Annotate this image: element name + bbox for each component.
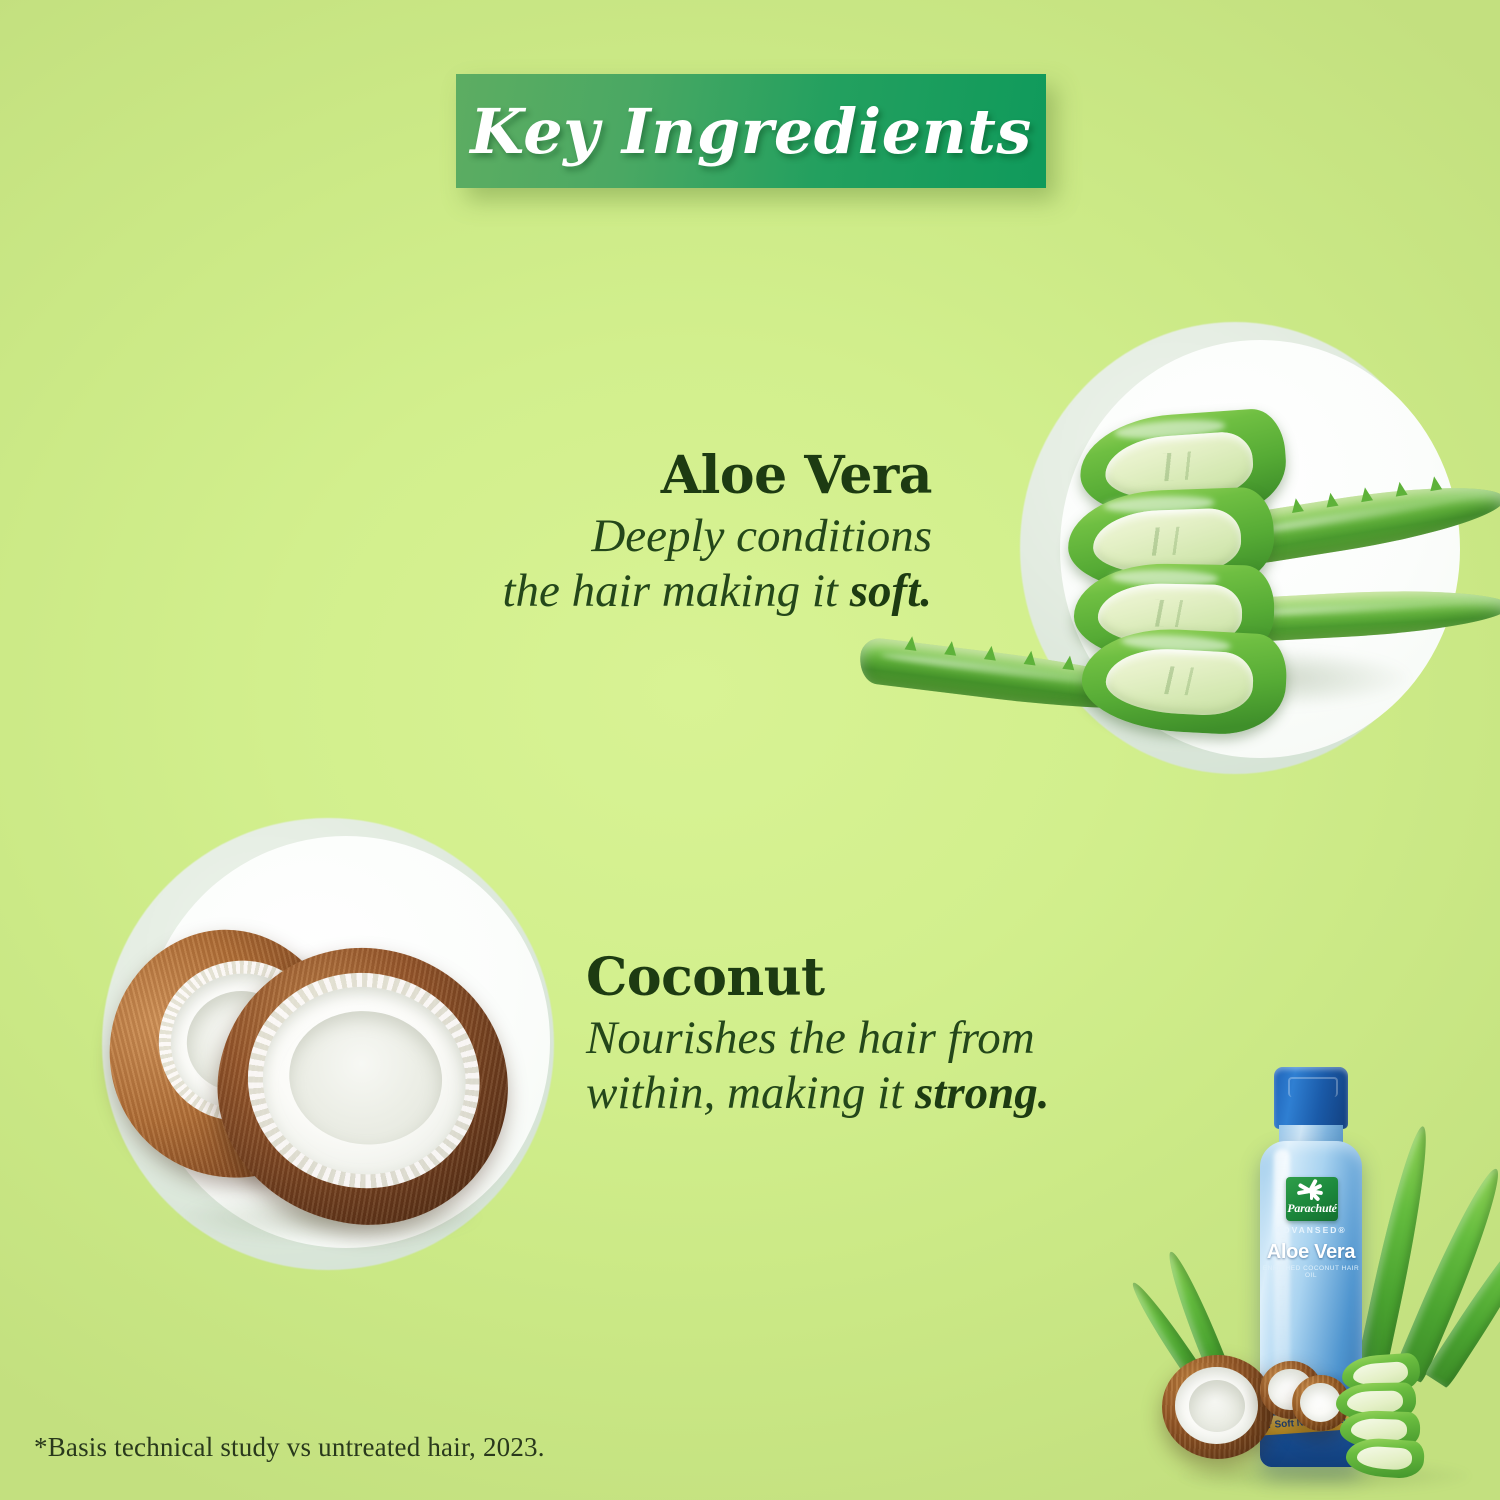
aloe-desc-line1: Deeply conditions	[591, 510, 932, 562]
palm-tree-icon	[1300, 1180, 1324, 1200]
product-subtitle: ENRICHED COCONUT HAIR OIL	[1260, 1265, 1362, 1279]
product-range: ADVANSED®	[1260, 1225, 1362, 1235]
aloe-desc-emphasis: soft.	[850, 565, 932, 617]
aloe-vera-text-block: Aloe Vera Deeply conditions the hair mak…	[340, 448, 932, 618]
pack-aloe-slice-4	[1345, 1436, 1425, 1479]
pack-coconut-half-large	[1162, 1355, 1274, 1459]
bottle-cap	[1274, 1067, 1348, 1129]
infographic-canvas: Key Ingredients	[0, 0, 1500, 1500]
aloe-vera-heading: Aloe Vera	[340, 448, 932, 503]
coconut-image	[90, 818, 590, 1298]
aloe-vera-description: Deeply conditions the hair making it sof…	[340, 509, 932, 618]
coconut-desc-emphasis: strong.	[915, 1067, 1050, 1119]
disclaimer-text: *Basis technical study vs untreated hair…	[34, 1432, 545, 1463]
parachute-logo-badge: Parachuté	[1286, 1177, 1338, 1221]
banner-title: Key Ingredients	[470, 95, 1032, 168]
coconut-desc-line1: Nourishes the hair from	[586, 1012, 1035, 1064]
aloe-slice-4	[1079, 625, 1288, 738]
aloe-vera-image	[960, 318, 1500, 788]
coconut-text-block: Coconut Nourishes the hair from within, …	[586, 950, 1246, 1120]
brand-name: Parachuté	[1286, 1201, 1338, 1216]
coconut-half-front	[200, 929, 526, 1243]
cap-flip-tab	[1288, 1077, 1338, 1097]
coconut-desc-line2: within, making it	[586, 1067, 915, 1119]
coconut-heading: Coconut	[586, 950, 1246, 1005]
coconut-description: Nourishes the hair from within, making i…	[586, 1011, 1246, 1120]
aloe-desc-line2: the hair making it	[503, 565, 850, 617]
product-pack-shot: Parachuté ADVANSED® Aloe Vera ENRICHED C…	[1160, 1055, 1500, 1500]
product-variant: Aloe Vera	[1260, 1241, 1362, 1264]
key-ingredients-banner: Key Ingredients	[456, 74, 1046, 188]
